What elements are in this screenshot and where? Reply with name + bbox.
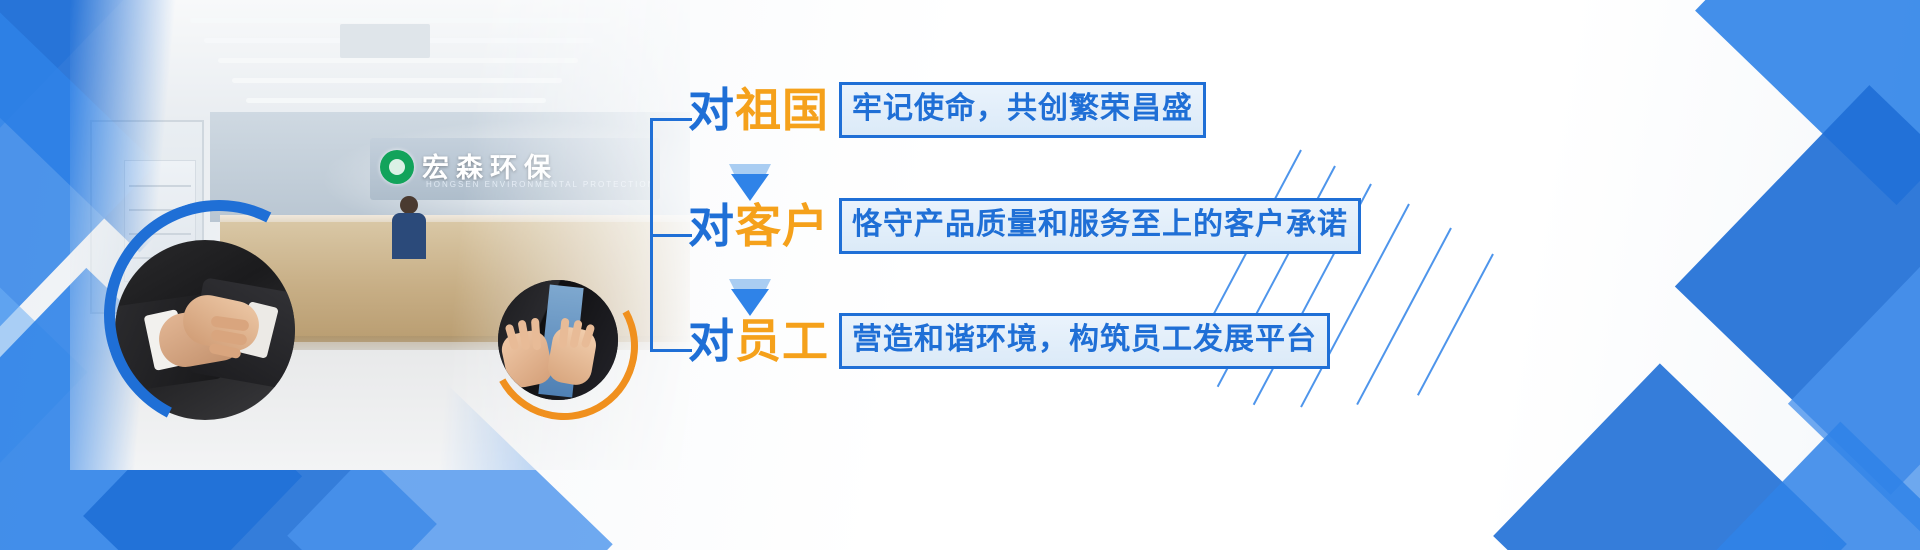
values-tree: 对祖国 牢记使命，共创繁荣昌盛 对客户 恪守产品质量和服务至上的客户承诺 对员工… [650,60,1350,400]
lead-prefix: 对 [688,200,735,252]
lead-target: 祖国 [735,84,829,136]
value-statement-customer: 恪守产品质量和服务至上的客户承诺 [839,198,1361,254]
decor-polygon-right-a [1675,85,1920,495]
value-statement-country: 牢记使命，共创繁荣昌盛 [839,82,1206,138]
decor-polygon-bottom-right-b [1701,422,1920,550]
lead-prefix: 对 [688,84,735,136]
value-lead-employee: 对员工 [688,318,829,364]
decor-shelf-row [129,185,191,187]
decor-ceiling-line [190,18,610,23]
tree-branch-3 [650,349,692,352]
tree-branch-1 [650,118,692,121]
lead-prefix: 对 [688,315,735,367]
decor-polygon-top-right [1695,0,1920,205]
company-subtitle: HONGSEN ENVIRONMENTAL PROTECTION [426,180,655,189]
value-row-employee: 对员工 营造和谐环境，构筑员工发展平台 [688,313,1330,369]
value-statement-employee: 营造和谐环境，构筑员工发展平台 [839,313,1330,369]
decor-ceiling-panel [340,24,430,58]
value-row-customer: 对客户 恪守产品质量和服务至上的客户承诺 [688,198,1361,254]
value-lead-customer: 对客户 [688,203,829,249]
lead-target: 员工 [735,315,829,367]
globe-leaf-icon [380,150,414,184]
decor-ceiling-line [246,98,546,103]
decor-diagonal-line [1417,254,1494,396]
decor-diagonal-line [1356,228,1452,406]
decor-polygon-right-b [1788,188,1920,550]
decor-ceiling-line [232,78,562,83]
tree-branch-2 [650,234,692,237]
value-lead-country: 对祖国 [688,87,829,133]
decor-ceiling-line [218,58,578,63]
banner-stage: 宏森环保 HONGSEN ENVIRONMENTAL PROTECTION [0,0,1920,550]
value-row-country: 对祖国 牢记使命，共创繁荣昌盛 [688,82,1206,138]
lead-target: 客户 [735,200,829,252]
